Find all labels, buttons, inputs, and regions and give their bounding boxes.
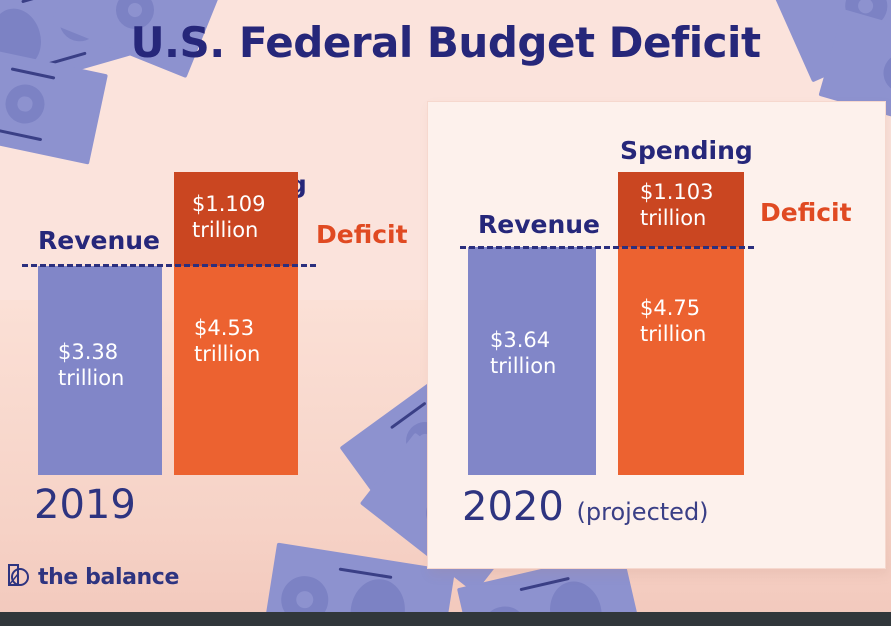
bottom-bar xyxy=(0,612,891,626)
group-2020: Spending Revenue Deficit $1.103 trillion… xyxy=(428,136,868,475)
deficit-value-number-2019: $1.109 xyxy=(192,192,265,216)
spending-value-number-2019: $4.53 xyxy=(194,316,254,340)
deficit-label-2020: Deficit xyxy=(760,198,852,227)
infographic-canvas: U.S. Federal Budget Deficit Spending Rev… xyxy=(0,0,891,626)
deficit-value-number-2020: $1.103 xyxy=(640,180,713,204)
bill-dash xyxy=(338,567,392,578)
deficit-value-unit-2019: trillion xyxy=(192,218,258,242)
revenue-value-unit-2019: trillion xyxy=(58,366,124,390)
deficit-value-2020: $1.103 trillion xyxy=(640,180,713,231)
spending-value-2019: $4.53 trillion xyxy=(194,316,260,367)
year-projected-note-2020: (projected) xyxy=(577,498,709,526)
spending-value-number-2020: $4.75 xyxy=(640,296,700,320)
group-2019: Spending Revenue Deficit $1.109 trillion… xyxy=(0,170,430,475)
page-title: U.S. Federal Budget Deficit xyxy=(0,18,891,67)
revenue-level-dashline-2020 xyxy=(460,246,754,249)
revenue-label-2020: Revenue xyxy=(478,210,600,239)
brand-logo[interactable]: the balance xyxy=(6,562,179,592)
spending-label-2020: Spending xyxy=(620,136,753,165)
balance-b-mark-icon xyxy=(6,562,32,592)
deficit-label-2019: Deficit xyxy=(316,220,408,249)
revenue-value-2019: $3.38 trillion xyxy=(58,340,124,391)
bill-seal xyxy=(2,81,48,127)
revenue-value-number-2019: $3.38 xyxy=(58,340,118,364)
revenue-value-number-2020: $3.64 xyxy=(490,328,550,352)
revenue-value-2020: $3.64 trillion xyxy=(490,328,556,379)
bill-dash xyxy=(11,67,56,79)
year-label-2020: 2020 (projected) xyxy=(462,484,709,530)
deficit-value-2019: $1.109 trillion xyxy=(192,192,265,243)
year-number-2020: 2020 xyxy=(462,484,564,530)
revenue-value-unit-2020: trillion xyxy=(490,354,556,378)
deficit-value-unit-2020: trillion xyxy=(640,206,706,230)
revenue-level-dashline-2019 xyxy=(22,264,316,267)
spending-value-unit-2019: trillion xyxy=(194,342,260,366)
bill-dash xyxy=(0,129,42,141)
brand-logo-text: the balance xyxy=(38,565,179,590)
year-label-2019: 2019 xyxy=(34,482,136,528)
spending-value-2020: $4.75 trillion xyxy=(640,296,706,347)
year-number-2019: 2019 xyxy=(34,482,136,528)
revenue-label-2019: Revenue xyxy=(38,226,160,255)
spending-value-unit-2020: trillion xyxy=(640,322,706,346)
